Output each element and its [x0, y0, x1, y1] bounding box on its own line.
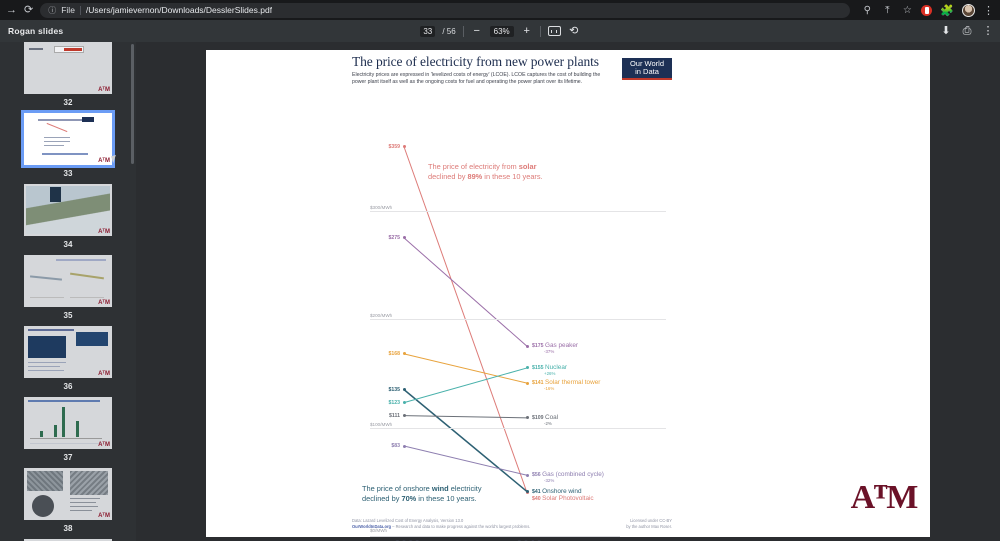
share-icon[interactable]: ⤒ — [881, 4, 893, 16]
avatar-icon[interactable] — [962, 4, 975, 17]
end-value: $109 — [532, 415, 544, 421]
series-change: -2% — [544, 422, 558, 427]
browser-toolbar: → ⟳ ⓘ File /Users/jamievernon/Downloads/… — [0, 0, 1000, 20]
end-value: $56 — [532, 472, 541, 478]
annotation-solar-line1: The price of electricity from solar — [428, 162, 536, 171]
series-change: +26% — [544, 372, 567, 377]
series-name: Solar Photovoltaic — [542, 495, 594, 502]
thumbnail-number: 37 — [64, 453, 73, 462]
thumbnail-number: 33 — [64, 169, 73, 178]
texas-am-logo: AᵀM — [98, 371, 110, 377]
gridline-200 — [370, 319, 666, 320]
thumbnail-item-38[interactable]: AᵀM38 — [0, 468, 136, 539]
annotation-wind: The price of onshore wind electricity de… — [362, 484, 542, 504]
file-scheme-label: File — [61, 5, 75, 15]
footer-owid-line: OurWorldInData.org – Research and data t… — [352, 524, 672, 530]
texas-am-logo: AᵀM — [98, 442, 110, 448]
thumbnail-number: 36 — [64, 382, 73, 391]
pdf-toolbar-right: ⬇ ⎙ ⋮ — [940, 26, 994, 37]
rotate-icon[interactable]: ⟲ — [568, 26, 580, 37]
texas-am-logo: AᵀM — [98, 513, 110, 519]
browser-actions: ⚲ ⤒ ☆ 🧩 ⋮ — [857, 4, 994, 17]
thumbnail-list: AᵀM32AᵀM33AᵀM34AᵀM35AᵀM36AᵀM37AᵀM38we ar… — [0, 42, 136, 541]
thumbnail-sidebar[interactable]: AᵀM32AᵀM33AᵀM34AᵀM35AᵀM36AᵀM37AᵀM38we ar… — [0, 42, 136, 541]
omnibox-divider — [80, 6, 81, 15]
start-label-nuclear: $123 — [388, 400, 400, 406]
end-value: $155 — [532, 365, 544, 371]
sidebar-scrollbar[interactable] — [131, 44, 134, 164]
thumbnail-page-35[interactable]: AᵀM — [24, 255, 112, 307]
footer-license: Licensed under CC-BY by the author Max R… — [626, 518, 672, 530]
chart-footer: Data: Lazard Levelized Cost of Energy An… — [352, 518, 672, 530]
series-change: -32% — [544, 479, 604, 484]
reload-icon[interactable]: ⟳ — [24, 5, 33, 16]
texas-am-logo: AᵀM — [98, 229, 110, 235]
annotation-wind-line2: declined by 70% in these 10 years. — [362, 494, 477, 503]
line-nuclear — [404, 368, 527, 403]
chart-subtitle: Electricity prices are expressed in 'lev… — [352, 72, 602, 87]
zoom-out-button[interactable]: − — [471, 26, 483, 37]
start-label-gas-combined-cycle-: $83 — [391, 443, 400, 449]
gridline-300 — [370, 211, 666, 212]
license-line2: by the author Max Roser. — [626, 524, 672, 529]
end-value: $141 — [532, 380, 544, 386]
page-count-label: / 56 — [442, 27, 455, 36]
three-dots-vertical-icon[interactable]: ⋮ — [982, 26, 994, 37]
zoom-in-button[interactable]: + — [521, 26, 533, 37]
thumbnail-number: 35 — [64, 311, 73, 320]
three-dots-vertical-icon[interactable]: ⋮ — [983, 4, 994, 17]
annotation-wind-line1: The price of onshore wind electricity — [362, 484, 482, 493]
page-scroll-area[interactable]: Our World in Data The price of electrici… — [136, 42, 1000, 541]
line-gas-peaker — [404, 238, 527, 346]
thumbnail-item-36[interactable]: AᵀM36 — [0, 326, 136, 397]
star-icon[interactable]: ☆ — [901, 4, 913, 16]
thumbnail-page-36[interactable]: AᵀM — [24, 326, 112, 378]
thumbnail-page-33[interactable]: AᵀM — [24, 113, 112, 165]
start-label-onshore-wind: $135 — [388, 387, 400, 393]
line-gas-combined-cycle- — [404, 446, 527, 475]
texas-am-logo: AᵀM — [98, 300, 110, 306]
toolbar-divider — [463, 26, 464, 37]
slide-content: Our World in Data The price of electrici… — [352, 54, 672, 524]
annotation-solar: The price of electricity from solar decl… — [428, 162, 598, 182]
owid-logo-line2: in Data — [623, 68, 671, 77]
gridline-100 — [370, 428, 666, 429]
start-label-gas-peaker: $275 — [388, 235, 400, 241]
end-label-gas-combined-cycle-: $56 Gas (combined cycle)-32% — [532, 472, 604, 483]
url-text: /Users/jamievernon/Downloads/DesslerSlid… — [86, 5, 272, 15]
thumbnail-page-34[interactable]: AᵀM — [24, 184, 112, 236]
owid-link[interactable]: OurWorldInData.org — [352, 524, 391, 529]
thumbnail-item-33[interactable]: AᵀM33 — [0, 113, 136, 184]
series-name: Onshore wind — [542, 488, 581, 495]
annotation-solar-line2: declined by 89% in these 10 years. — [428, 172, 543, 181]
datapoint-2019-gas-combined-cycle- — [526, 474, 529, 477]
series-name: Nuclear — [545, 364, 567, 371]
start-label-coal: $111 — [389, 413, 400, 419]
start-label-solar-thermal-tower: $168 — [388, 351, 400, 357]
thumbnail-number: 32 — [64, 98, 73, 107]
y-axis-label-300: $300/MWh — [370, 205, 392, 210]
thumbnail-item-34[interactable]: AᵀM34 — [0, 184, 136, 255]
page-number-input[interactable]: 33 — [420, 26, 435, 37]
end-label-gas-peaker: $175 Gas peaker-37% — [532, 343, 578, 354]
texas-am-logo: AᵀM — [98, 158, 110, 164]
print-icon[interactable]: ⎙ — [961, 26, 973, 37]
line-solar-thermal-tower — [404, 354, 527, 383]
thumbnail-number: 38 — [64, 524, 73, 533]
thumbnail-number: 34 — [64, 240, 73, 249]
line-coal — [404, 416, 527, 418]
datapoint-2009-gas-peaker — [403, 236, 406, 239]
datapoint-2019-gas-peaker — [526, 345, 529, 348]
pdf-page-33: Our World in Data The price of electrici… — [206, 50, 930, 537]
texas-am-logo: AᵀM — [98, 87, 110, 93]
y-axis-label-200: $200/MWh — [370, 313, 392, 318]
datapoint-2019-solar-thermal-tower — [526, 382, 529, 385]
pdf-viewer-toolbar: Rogan slides 33 / 56 − 63% + ⟲ ⬇ ⎙ ⋮ — [0, 20, 1000, 42]
series-name: Coal — [545, 414, 558, 421]
address-bar[interactable]: ⓘ File /Users/jamievernon/Downloads/Dess… — [40, 3, 850, 18]
series-change: -37% — [544, 350, 578, 355]
arrow-left-icon[interactable]: → — [6, 5, 17, 16]
recording-indicator-icon[interactable] — [921, 5, 932, 16]
datapoint-2009-solar-photovoltaic — [403, 145, 406, 148]
end-label-coal: $109 Coal-2% — [532, 415, 558, 426]
info-circle-icon[interactable]: ⓘ — [48, 5, 56, 16]
thumbnail-page-32[interactable]: AᵀM — [24, 42, 112, 94]
toolbar-divider — [540, 26, 541, 37]
datapoint-2009-nuclear — [403, 401, 406, 404]
datapoint-2009-onshore-wind — [403, 388, 406, 391]
start-label-solar-photovoltaic: $359 — [388, 144, 400, 150]
y-axis-label-100: $100/MWh — [370, 422, 392, 427]
pdf-viewer-body: AᵀM32AᵀM33AᵀM34AᵀM35AᵀM36AᵀM37AᵀM38we ar… — [0, 42, 1000, 541]
end-value: $175 — [532, 343, 544, 349]
license-line1: Licensed under CC-BY — [630, 518, 672, 523]
search-icon[interactable]: ⚲ — [861, 4, 873, 16]
download-icon[interactable]: ⬇ — [940, 26, 952, 37]
end-label-solar-thermal-tower: $141 Solar thermal tower-16% — [532, 380, 600, 391]
series-change: -16% — [544, 387, 600, 392]
pdf-controls: 33 / 56 − 63% + ⟲ — [0, 26, 1000, 37]
texas-am-logo: AᵀM — [848, 473, 920, 525]
puzzle-icon[interactable]: 🧩 — [940, 4, 954, 17]
owid-tagline: – Research and data to make progress aga… — [391, 524, 530, 529]
thumbnail-item-32[interactable]: AᵀM32 — [0, 42, 136, 113]
fit-to-width-icon[interactable] — [548, 26, 561, 36]
thumbnail-item-37[interactable]: AᵀM37 — [0, 397, 136, 468]
chart-plot-area: $300/MWh$200/MWh$100/MWh $359$40 Solar P… — [352, 106, 672, 481]
zoom-level-label[interactable]: 63% — [490, 26, 514, 37]
our-world-in-data-logo: Our World in Data — [622, 58, 672, 80]
datapoint-2009-gas-combined-cycle- — [403, 445, 406, 448]
datapoint-2009-coal — [403, 414, 406, 417]
datapoint-2019-coal — [526, 416, 529, 419]
end-label-nuclear: $155 Nuclear+26% — [532, 365, 567, 376]
thumbnail-page-38[interactable]: AᵀM — [24, 468, 112, 520]
thumbnail-item-35[interactable]: AᵀM35 — [0, 255, 136, 326]
thumbnail-page-37[interactable]: AᵀM — [24, 397, 112, 449]
x-axis-baseline — [370, 536, 620, 537]
